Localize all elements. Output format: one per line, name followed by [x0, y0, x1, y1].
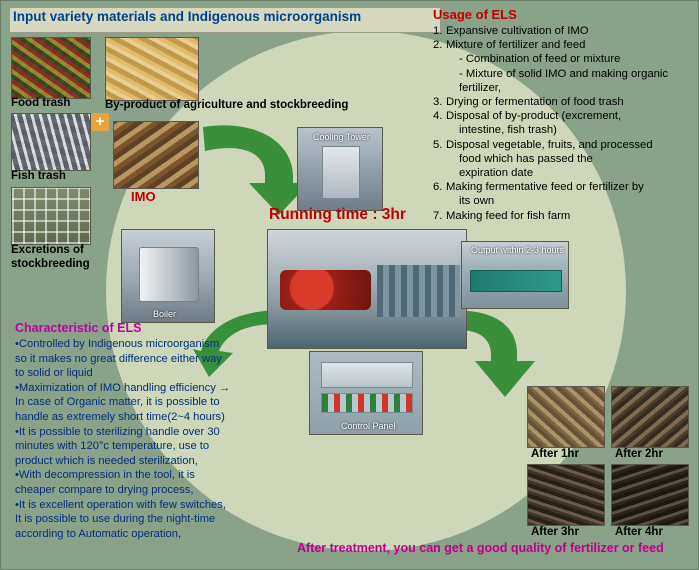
characteristic-line: cheaper compare to drying process, [15, 483, 283, 498]
usage-item: - Combination of feed or mixture [433, 52, 695, 66]
usage-item-number [433, 123, 446, 137]
usage-item-text: intestine, fish trash) [446, 123, 557, 137]
usage-item-text: Disposal of by-product (excrement, [446, 109, 621, 123]
usage-item: 6.Making fermentative feed or fertilizer… [433, 180, 695, 194]
footer-note: After treatment, you can get a good qual… [297, 541, 664, 555]
usage-item-text: Disposal vegetable, fruits, and processe… [446, 138, 653, 152]
usage-title: Usage of ELS [433, 7, 695, 22]
photo-result-3hr [527, 464, 605, 526]
photo-excretions [11, 187, 91, 245]
usage-item-text: Drying or fermentation of food trash [446, 95, 624, 109]
usage-item: intestine, fish trash) [433, 123, 695, 137]
plus-icon: + [91, 113, 109, 131]
photo-fish-trash [11, 113, 91, 171]
usage-item-number: 7. [433, 209, 446, 223]
usage-item-number: 5. [433, 138, 446, 152]
running-time-label: Running time : 3hr [269, 206, 406, 224]
characteristic-line: product which is needed sterilization, [15, 454, 283, 469]
usage-panel: Usage of ELS 1.Expansive cultivation of … [433, 7, 695, 223]
characteristic-line: In case of Organic matter, it is possibl… [15, 395, 283, 410]
characteristic-title: Characteristic of ELS [15, 321, 283, 335]
usage-item-number [433, 52, 446, 66]
usage-item-number: 4. [433, 109, 446, 123]
caption-food-trash: Food trash [11, 97, 70, 109]
usage-list: 1.Expansive cultivation of IMO 2.Mixture… [433, 24, 695, 223]
photo-result-1hr [527, 386, 605, 448]
caption-excretions-line2: stockbreeding [11, 258, 90, 270]
characteristic-list: •Controlled by Indigenous microorganism … [15, 337, 283, 541]
usage-item-number [433, 67, 446, 81]
usage-item-number [433, 81, 446, 95]
usage-item-text: food which has passed the [446, 152, 593, 166]
usage-item: food which has passed the [433, 152, 695, 166]
photo-main-machine [267, 229, 467, 349]
characteristic-line: •Controlled by Indigenous microorganism [15, 337, 283, 352]
caption-fish-trash: Fish trash [11, 170, 66, 182]
caption-result-1hr: After 1hr [531, 448, 579, 460]
usage-item-number: 6. [433, 180, 446, 194]
photo-byproduct [105, 37, 199, 101]
characteristic-line: It is possible to use during the night-t… [15, 512, 283, 527]
usage-item: expiration date [433, 166, 695, 180]
usage-item: 7.Making feed for fish farm [433, 209, 695, 223]
caption-result-2hr: After 2hr [615, 448, 663, 460]
usage-item: 1.Expansive cultivation of IMO [433, 24, 695, 38]
photo-imo [113, 121, 199, 189]
photo-food-trash [11, 37, 91, 99]
usage-item-text: fertilizer, [446, 81, 501, 95]
usage-item-number: 3. [433, 95, 446, 109]
caption-excretions-line1: Excretions of [11, 244, 84, 256]
photo-result-2hr [611, 386, 689, 448]
characteristic-line: according to Automatic operation, [15, 527, 283, 542]
label-boiler: Boiler [153, 309, 176, 319]
usage-item-text: Making fermentative feed or fertilizer b… [446, 180, 644, 194]
label-control-panel: Control Panel [341, 421, 396, 431]
caption-result-3hr: After 3hr [531, 526, 579, 538]
usage-item: 4.Disposal of by-product (excrement, [433, 109, 695, 123]
caption-imo: IMO [131, 189, 156, 204]
label-cooling-tower: Cooling Tower [313, 132, 370, 142]
usage-item-text: expiration date [446, 166, 533, 180]
usage-item: - Mixture of solid IMO and making organi… [433, 67, 695, 81]
characteristic-line: so it makes no great difference either w… [15, 352, 283, 367]
usage-item: its own [433, 194, 695, 208]
usage-item-number: 1. [433, 24, 446, 38]
label-output-note: Output within 2-3 hours [471, 245, 564, 255]
photo-result-4hr [611, 464, 689, 526]
characteristic-line: to solid or liquid [15, 366, 283, 381]
usage-item: 5.Disposal vegetable, fruits, and proces… [433, 138, 695, 152]
characteristic-line: •It is possible to sterilizing handle ov… [15, 425, 283, 440]
usage-item-text: Making feed for fish farm [446, 209, 570, 223]
characteristic-line: •It is excellent operation with few swit… [15, 498, 283, 513]
usage-item-text: Expansive cultivation of IMO [446, 24, 589, 38]
characteristic-line: handle as extremely short time(2~4 hours… [15, 410, 283, 425]
caption-byproduct: By-product of agriculture and stockbreed… [105, 99, 348, 111]
usage-item-text: its own [446, 194, 494, 208]
usage-item: 2.Mixture of fertilizer and feed [433, 38, 695, 52]
characteristic-line: minutes with 120°c temperature, use to [15, 439, 283, 454]
characteristic-panel: Characteristic of ELS •Controlled by Ind… [15, 321, 283, 541]
characteristic-line: •Maximization of IMO handling efficiency… [15, 381, 283, 396]
usage-item: fertilizer, [433, 81, 695, 95]
usage-item-text: Mixture of fertilizer and feed [446, 38, 585, 52]
page-title: Input variety materials and Indigenous m… [13, 9, 361, 24]
caption-result-4hr: After 4hr [615, 526, 663, 538]
usage-item-number: 2. [433, 38, 446, 52]
usage-item-number [433, 194, 446, 208]
usage-item-number [433, 152, 446, 166]
usage-item-text: - Mixture of solid IMO and making organi… [446, 67, 668, 81]
poster-canvas: Input variety materials and Indigenous m… [0, 0, 699, 570]
characteristic-line: •With decompression in the tool, it is [15, 468, 283, 483]
usage-item: 3.Drying or fermentation of food trash [433, 95, 695, 109]
usage-item-number [433, 166, 446, 180]
usage-item-text: - Combination of feed or mixture [446, 52, 620, 66]
